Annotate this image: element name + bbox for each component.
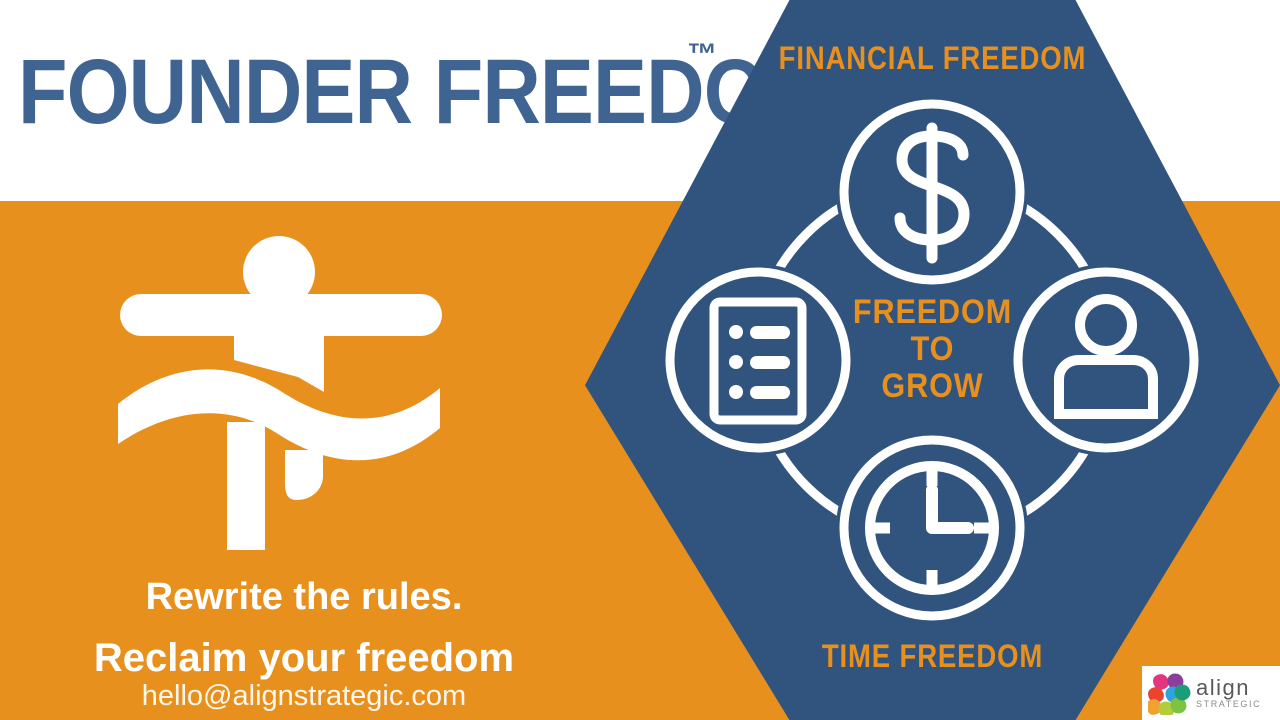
- align-logo-name: align: [1196, 677, 1261, 699]
- tagline-secondary: Reclaim your freedom: [0, 636, 608, 680]
- poster-canvas: FOUNDER FREEDOM ™: [0, 0, 1280, 720]
- trademark-symbol: ™: [687, 38, 717, 72]
- align-logo-subtitle: STRATEGIC: [1196, 699, 1261, 710]
- runner-hurdle-icon: [112, 232, 452, 550]
- petal-flower-icon: [1148, 671, 1192, 715]
- align-strategic-logo[interactable]: align STRATEGIC: [1142, 666, 1280, 720]
- contact-email[interactable]: hello@alignstrategic.com: [0, 680, 608, 713]
- align-wordmark: align STRATEGIC: [1196, 677, 1261, 710]
- tagline-primary: Rewrite the rules.: [0, 576, 608, 618]
